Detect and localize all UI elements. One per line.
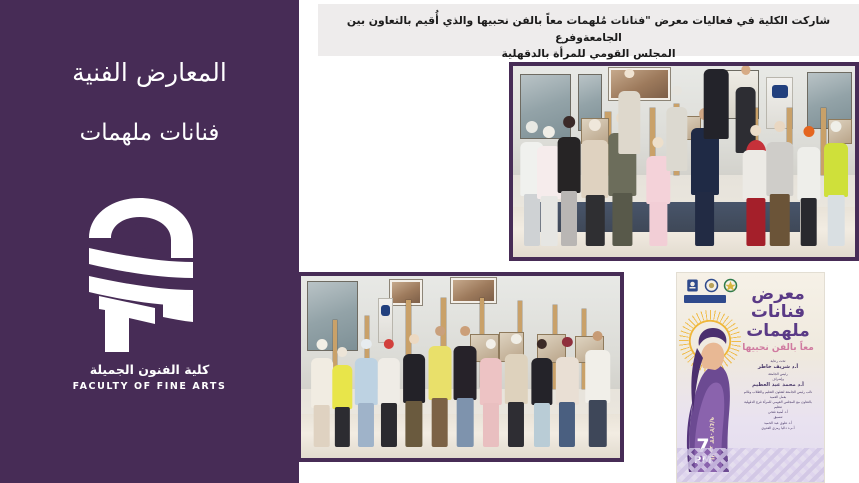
photo-top-image [513,66,855,257]
caption-line-1: شاركت الكلية في فعاليات معرض "فنانات مُل… [347,14,830,44]
caption-band: شاركت الكلية في فعاليات معرض "فنانات مُل… [318,4,859,56]
photo-bottom-image [301,276,620,458]
person [616,66,643,223]
sidebar-panel: المعارض الفنية فنانات ملهمات كلية الفنون… [0,0,299,483]
banner-badge [772,85,788,98]
university-seal-logo-icon [685,278,700,293]
person [451,323,480,447]
poster-subtitle: معاً بالفن نحبيها [741,343,815,353]
person [374,334,403,447]
exhibition-poster: معرض فنانات ملهمات معاً بالفن نحبيها تحت… [676,272,825,483]
hall-scene-top [513,66,855,257]
poster-title-line-3: ملهمات [739,322,817,340]
person [821,116,852,246]
person [527,334,556,447]
person [400,331,429,447]
person [425,323,454,447]
hall-scene-bottom [301,276,620,458]
poster-credit: أ.د محمد عبد العظيم [740,382,816,390]
person [476,334,505,447]
person [502,331,531,447]
person [793,120,824,246]
exhibition-group-photo-top [509,62,859,261]
poster-logo-row [685,278,738,293]
faculty-logo-block: كلية الفنون الجميلة FACULTY OF FINE ARTS [0,196,299,436]
person [582,327,614,447]
caption-line-2: المجلس القومي للمرأة بالدقهلية [501,47,675,60]
wall-artwork [451,278,496,303]
sidebar-title-primary: المعارض الفنية [0,58,299,87]
faculty-logo-arabic-name: كلية الفنون الجميلة [0,362,299,377]
poster-zigzag-pattern [677,448,824,482]
person [763,116,797,246]
exhibition-group-photo-bottom [297,272,624,462]
slide-canvas: المعارض الفنية فنانات ملهمات كلية الفنون… [0,0,859,483]
faculty-logo-english-name: FACULTY OF FINE ARTS [0,381,299,392]
banner-badge [381,305,390,316]
poster-title: معرض فنانات ملهمات [739,285,817,340]
sidebar-title-secondary: فنانات ملهمات [0,120,299,146]
poster-credit: نائب رئيس الجامعة لشئون التعليم والطلاب … [740,390,816,400]
faculty-seal-logo-icon [723,278,738,293]
person [701,66,732,215]
poster-credit: أ.د شريف خاطر [740,364,816,372]
poster-credit: أ.م.د داليا رمزي العدوي [740,426,816,431]
poster-ribbon [684,295,726,303]
person [553,332,582,447]
caption-text-block: شاركت الكلية في فعاليات معرض "فنانات مُل… [330,13,847,63]
council-logo-icon [704,278,719,293]
poster-title-line-2: فنانات [739,303,817,321]
poster-title-line-1: معرض [739,285,817,303]
faculty-of-fine-arts-logo-icon [85,196,215,356]
poster-credits: تحت رعاية أ.د شريف خاطر رئيس الجامعة وإش… [740,359,816,431]
